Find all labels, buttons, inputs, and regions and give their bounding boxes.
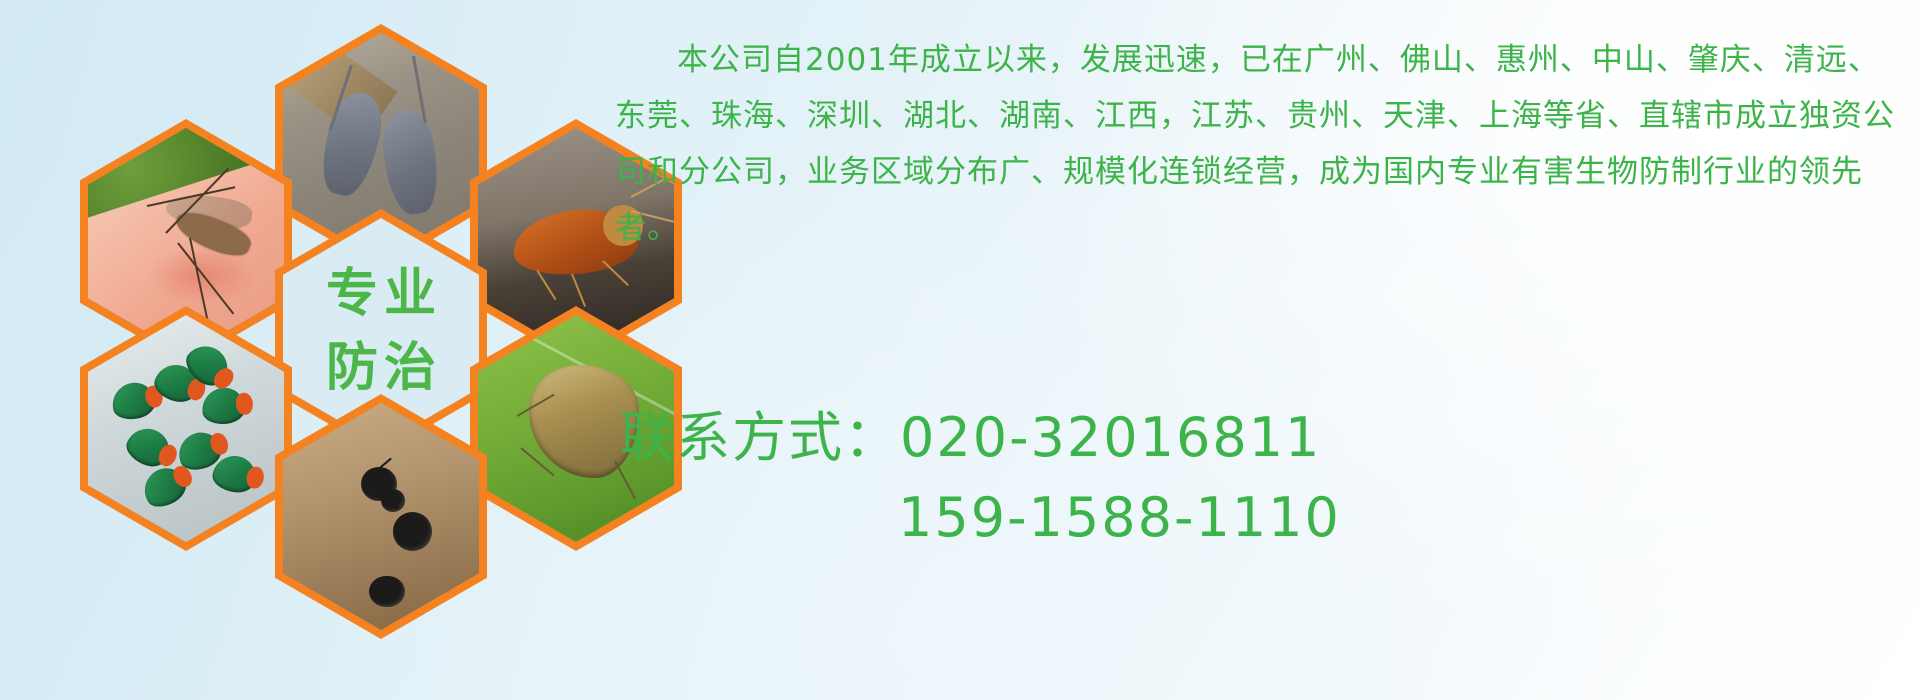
hex-photo-ants-image bbox=[283, 403, 479, 630]
contact-line-secondary[interactable]: 159-1588-1110 bbox=[620, 478, 1341, 558]
contact-line-primary[interactable]: 联系方式：020-32016811 bbox=[620, 398, 1341, 478]
slogan-line-1: 专业 bbox=[320, 258, 442, 332]
ants-illustration bbox=[283, 403, 479, 630]
contact-block: 联系方式：020-32016811 159-1588-1110 bbox=[620, 398, 1341, 558]
hex-photo-ants[interactable] bbox=[275, 394, 487, 639]
hex-photo-flies[interactable] bbox=[80, 306, 292, 551]
company-intro-paragraph: 本公司自2001年成立以来，发展迅速，已在广州、佛山、惠州、中山、肇庆、清远、东… bbox=[615, 32, 1905, 256]
company-intro-block: 本公司自2001年成立以来，发展迅速，已在广州、佛山、惠州、中山、肇庆、清远、东… bbox=[615, 32, 1905, 256]
hexagon-photo-cluster: 专业 防治 bbox=[85, 0, 605, 574]
hex-photo-flies-image bbox=[88, 315, 284, 542]
flies-illustration bbox=[88, 315, 284, 542]
pest-control-banner: 专业 防治 bbox=[0, 0, 1920, 700]
